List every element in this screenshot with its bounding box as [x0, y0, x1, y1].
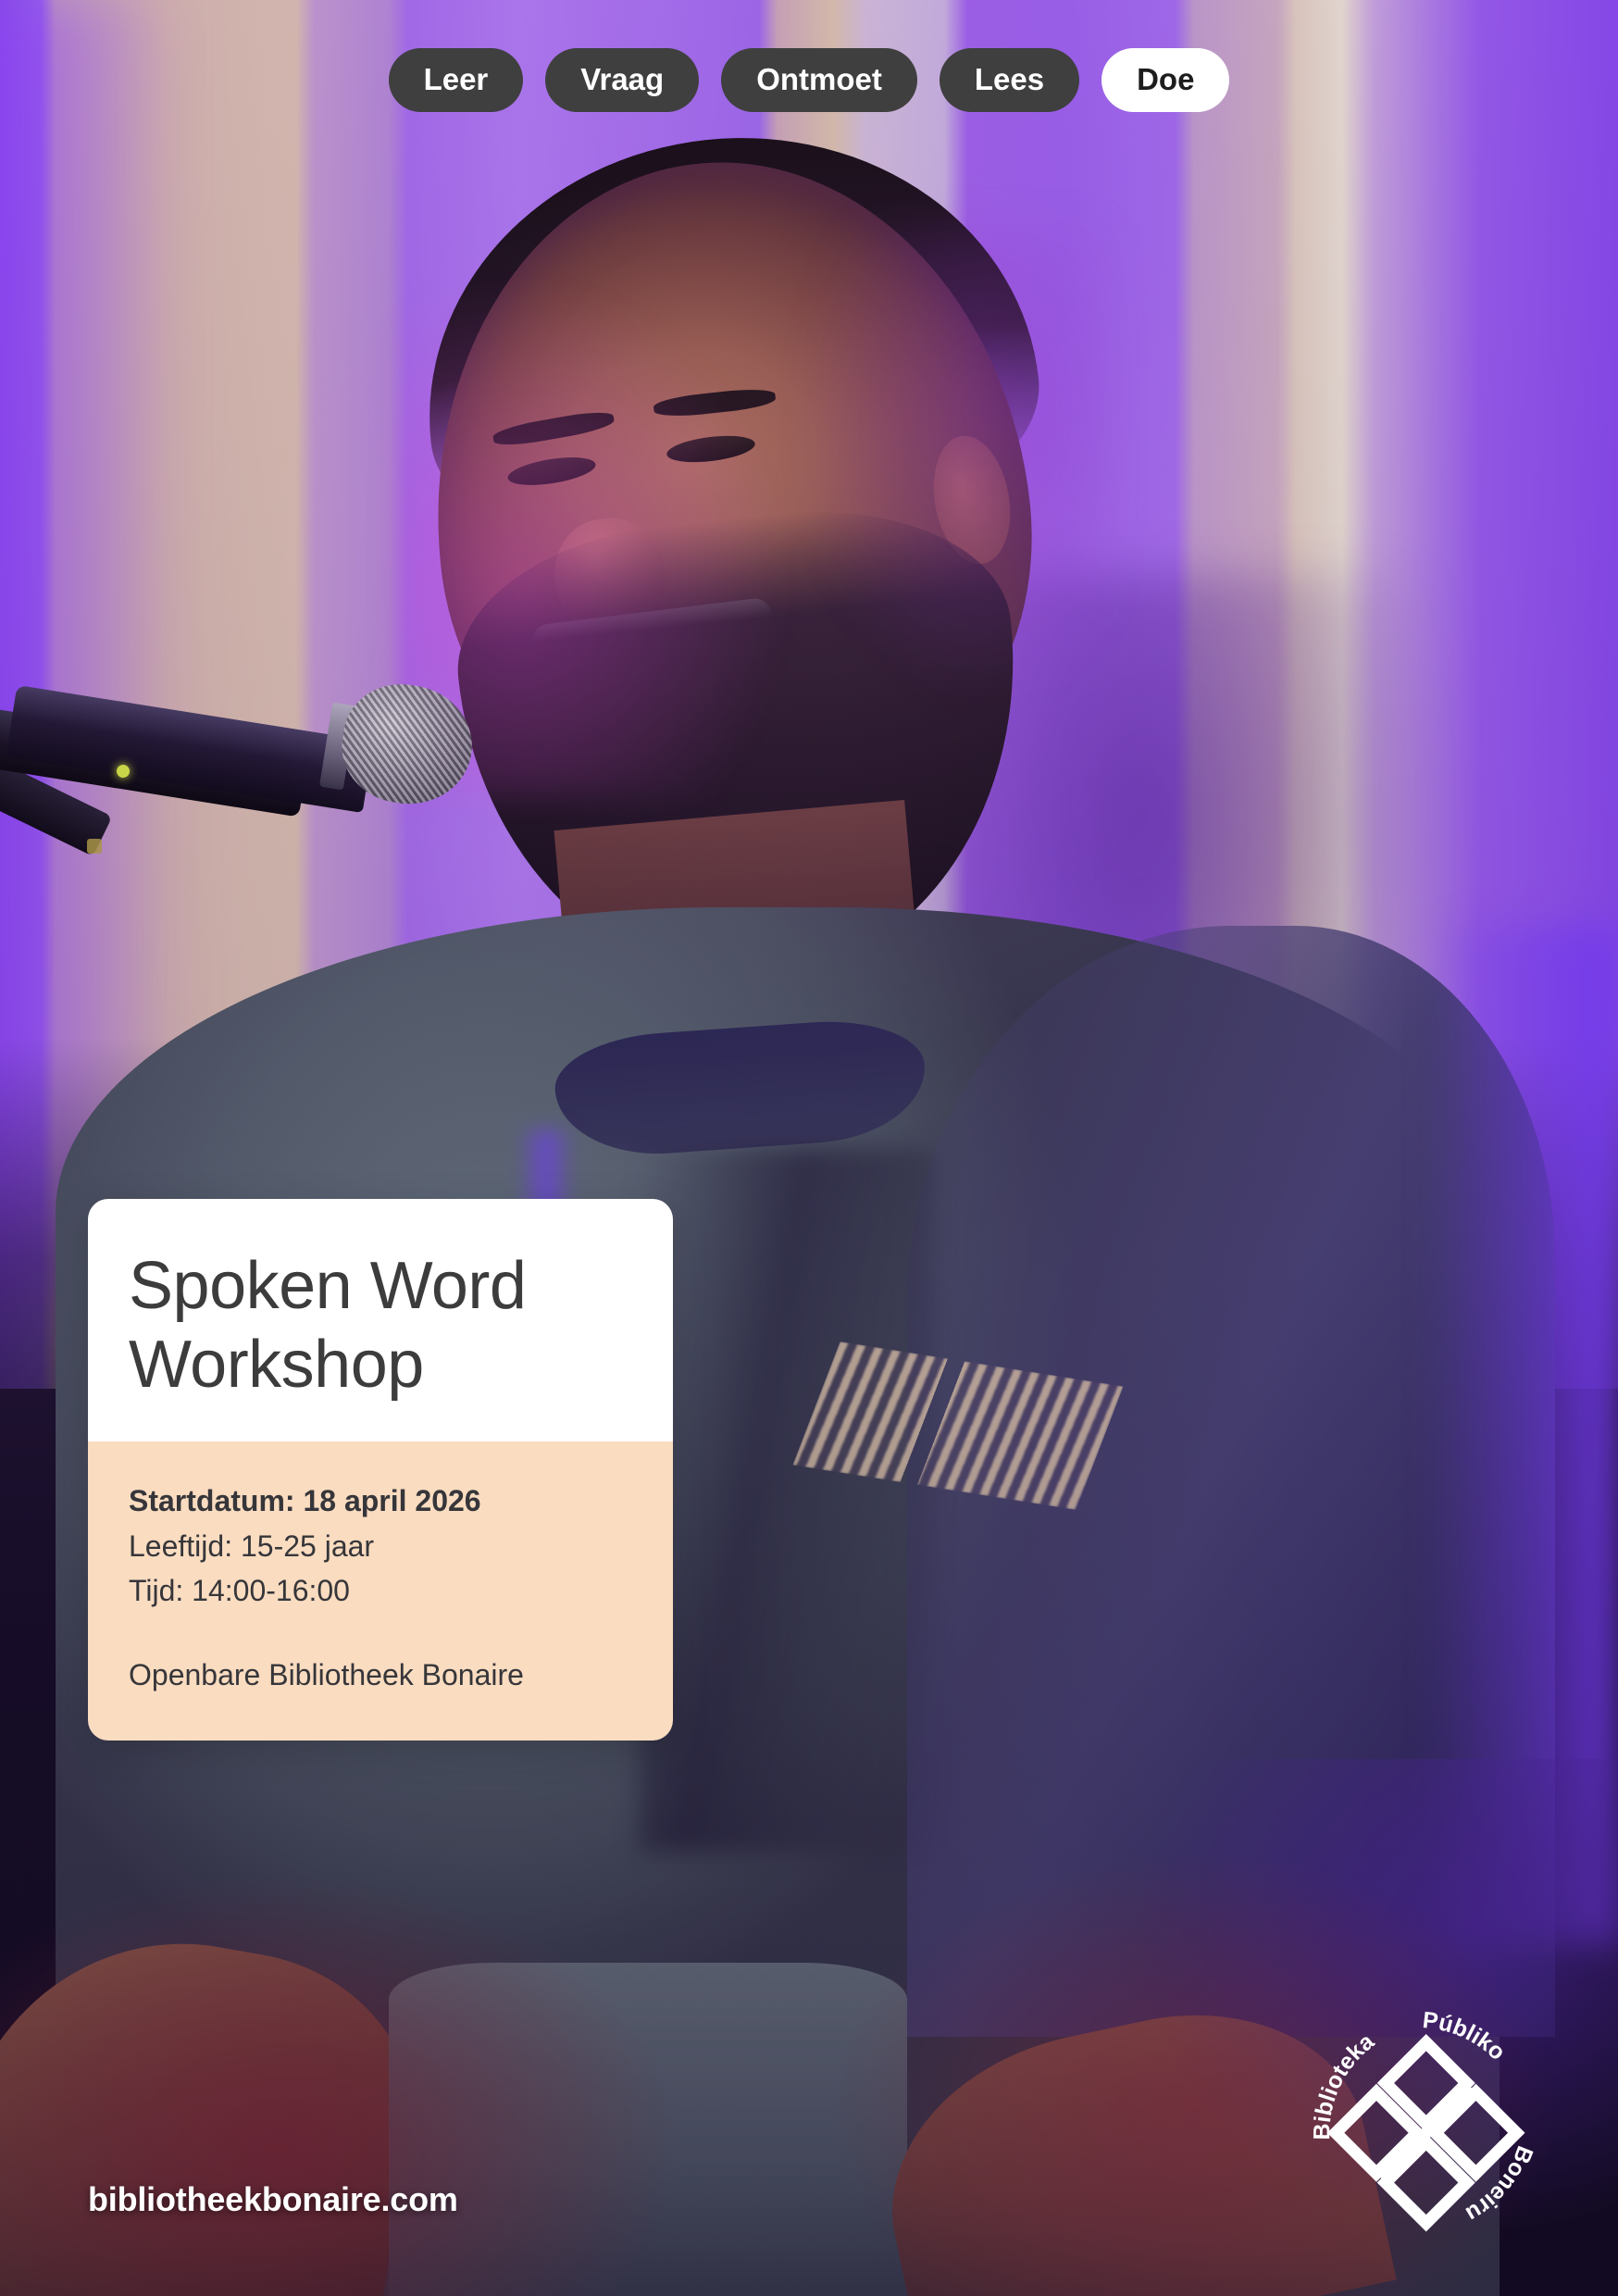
library-logo: Biblioteka Públiko Boneiru	[1310, 2007, 1541, 2239]
event-title-line-1: Spoken Word	[129, 1247, 632, 1326]
shirt-fold-shadow	[639, 1148, 935, 1852]
nav-pill-doe[interactable]: Doe	[1101, 48, 1229, 112]
nav-pill-leer[interactable]: Leer	[389, 48, 524, 112]
event-photo	[0, 0, 1618, 2296]
event-title: Spoken Word Workshop	[129, 1247, 632, 1404]
nav-pill-lees[interactable]: Lees	[940, 48, 1079, 112]
event-startdate: Startdatum: 18 april 2026	[129, 1479, 632, 1524]
event-title-line-2: Workshop	[129, 1326, 632, 1404]
event-age-range: Leeftijd: 15-25 jaar	[129, 1524, 632, 1569]
purple-face-light	[796, 222, 1111, 704]
event-venue: Openbare Bibliotheek Bonaire	[129, 1654, 632, 1696]
category-nav: Leer Vraag Ontmoet Lees Doe	[0, 48, 1618, 112]
nav-pill-vraag[interactable]: Vraag	[545, 48, 699, 112]
event-title-block: Spoken Word Workshop	[88, 1199, 673, 1441]
event-info-card: Spoken Word Workshop Startdatum: 18 apri…	[88, 1199, 673, 1741]
microphone-clip-screw	[87, 839, 102, 854]
event-details-block: Startdatum: 18 april 2026 Leeftijd: 15-2…	[88, 1441, 673, 1741]
nav-pill-ontmoet[interactable]: Ontmoet	[721, 48, 917, 112]
poster: Leer Vraag Ontmoet Lees Doe Spoken Word …	[0, 0, 1618, 2296]
event-time: Tijd: 14:00-16:00	[129, 1568, 632, 1614]
website-url[interactable]: bibliotheekbonaire.com	[88, 2180, 458, 2219]
